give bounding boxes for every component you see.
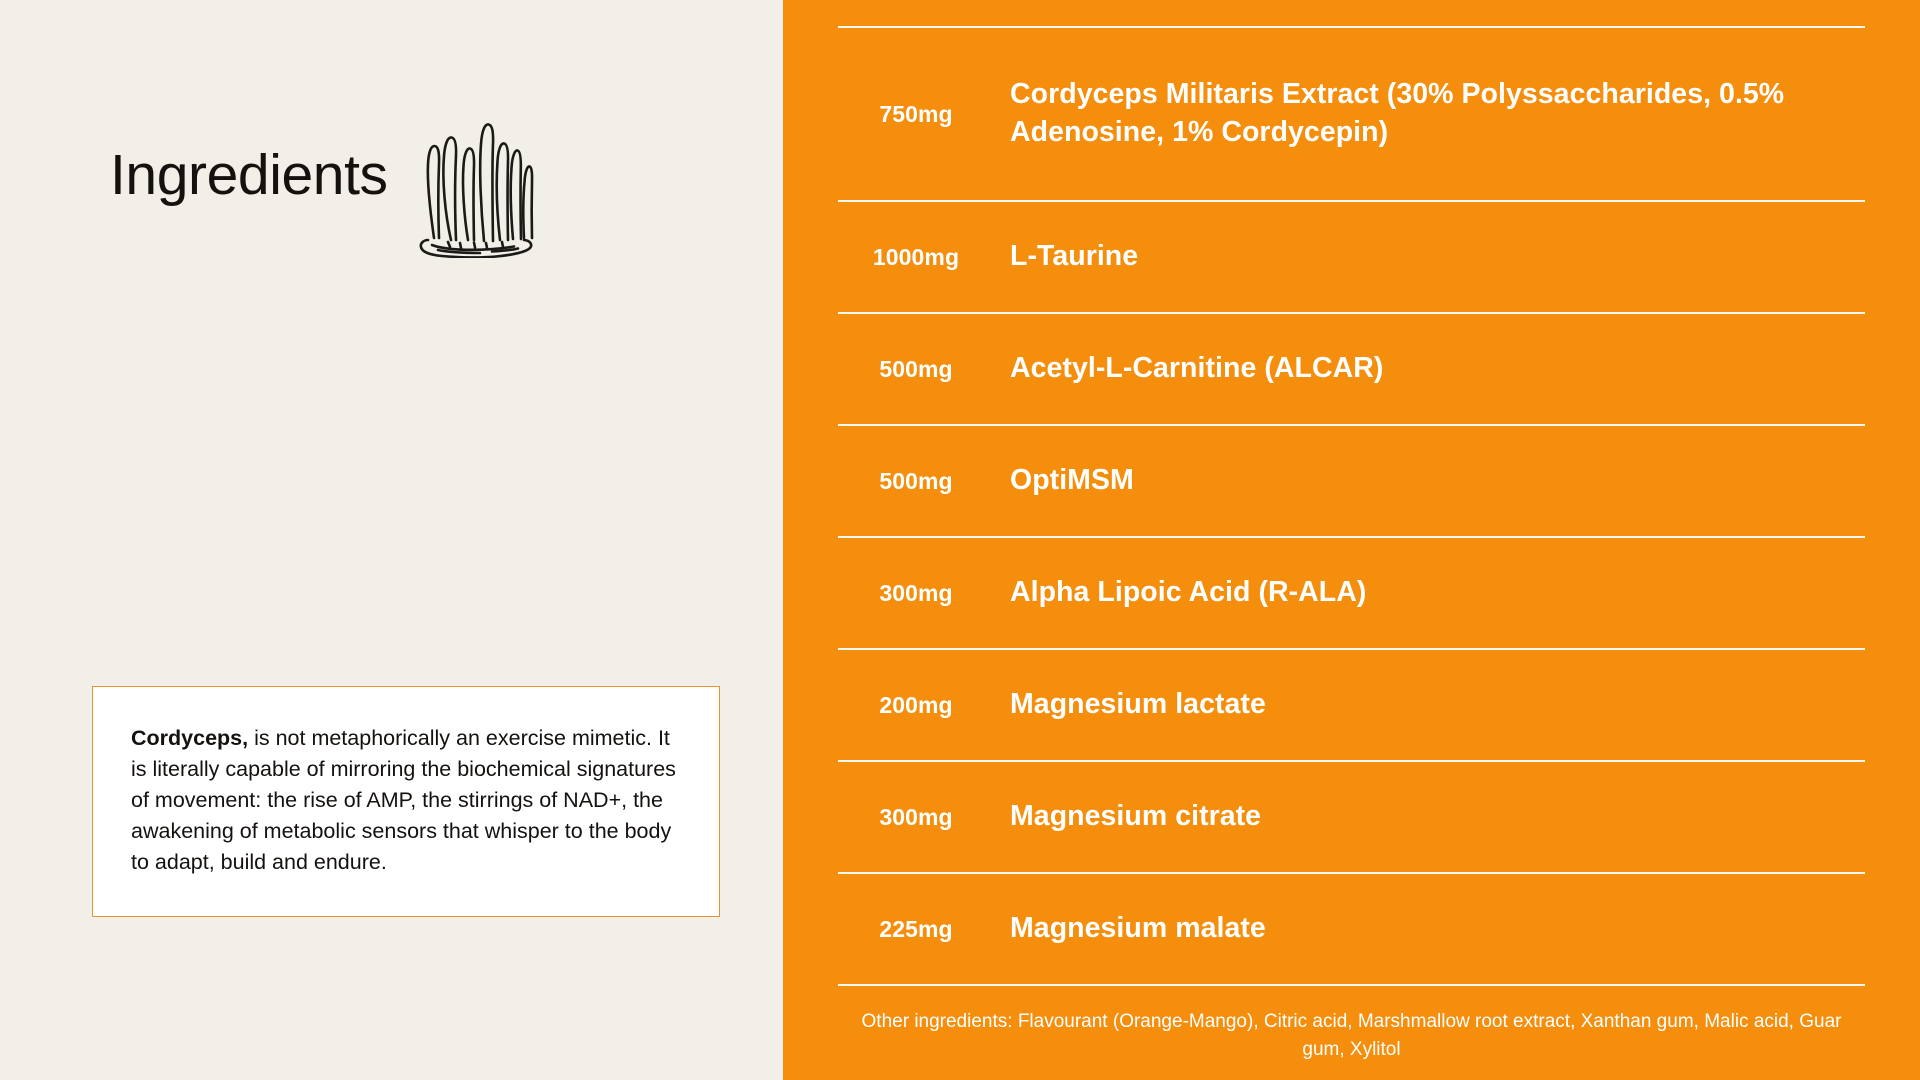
cordyceps-illustration (414, 92, 540, 258)
left-panel: Ingredients (0, 0, 783, 1080)
ingredient-name: Magnesium malate (1010, 910, 1865, 948)
table-row: 500mg OptiMSM (838, 426, 1865, 536)
table-divider (838, 312, 1865, 314)
ingredients-table: 750mg Cordyceps Militaris Extract (30% P… (838, 26, 1865, 1064)
cordyceps-info-text: Cordyceps, is not metaphorically an exer… (131, 723, 681, 878)
ingredient-dose: 750mg (838, 101, 1010, 128)
ingredient-name: Alpha Lipoic Acid (R-ALA) (1010, 574, 1865, 612)
ingredient-name: OptiMSM (1010, 462, 1865, 500)
ingredient-dose: 300mg (838, 804, 1010, 831)
table-row: 1000mg L-Taurine (838, 202, 1865, 312)
ingredient-dose: 1000mg (838, 244, 1010, 271)
page-title: Ingredients (110, 147, 388, 204)
ingredient-dose: 500mg (838, 468, 1010, 495)
table-divider (838, 872, 1865, 874)
ingredients-panel: 750mg Cordyceps Militaris Extract (30% P… (783, 0, 1920, 1080)
table-row: 200mg Magnesium lactate (838, 650, 1865, 760)
table-row: 500mg Acetyl-L-Carnitine (ALCAR) (838, 314, 1865, 424)
ingredient-name: Cordyceps Militaris Extract (30% Polyssa… (1010, 76, 1865, 152)
ingredient-dose: 200mg (838, 692, 1010, 719)
other-ingredients-note: Other ingredients: Flavourant (Orange-Ma… (838, 1008, 1865, 1064)
table-divider (838, 424, 1865, 426)
table-divider (838, 26, 1865, 28)
ingredient-name: L-Taurine (1010, 238, 1865, 276)
ingredient-name: Acetyl-L-Carnitine (ALCAR) (1010, 350, 1865, 388)
table-row: 750mg Cordyceps Militaris Extract (30% P… (838, 28, 1865, 200)
table-divider (838, 984, 1865, 986)
ingredient-name: Magnesium citrate (1010, 798, 1865, 836)
cordyceps-info-card: Cordyceps, is not metaphorically an exer… (92, 686, 720, 917)
table-divider (838, 200, 1865, 202)
table-row: 300mg Magnesium citrate (838, 762, 1865, 872)
ingredient-dose: 500mg (838, 356, 1010, 383)
ingredient-dose: 225mg (838, 916, 1010, 943)
cordyceps-info-lead: Cordyceps, (131, 726, 248, 750)
table-divider (838, 760, 1865, 762)
table-divider (838, 536, 1865, 538)
table-divider (838, 648, 1865, 650)
ingredient-name: Magnesium lactate (1010, 686, 1865, 724)
table-row: 300mg Alpha Lipoic Acid (R-ALA) (838, 538, 1865, 648)
table-row: 225mg Magnesium malate (838, 874, 1865, 984)
title-row: Ingredients (110, 92, 540, 258)
ingredient-dose: 300mg (838, 580, 1010, 607)
